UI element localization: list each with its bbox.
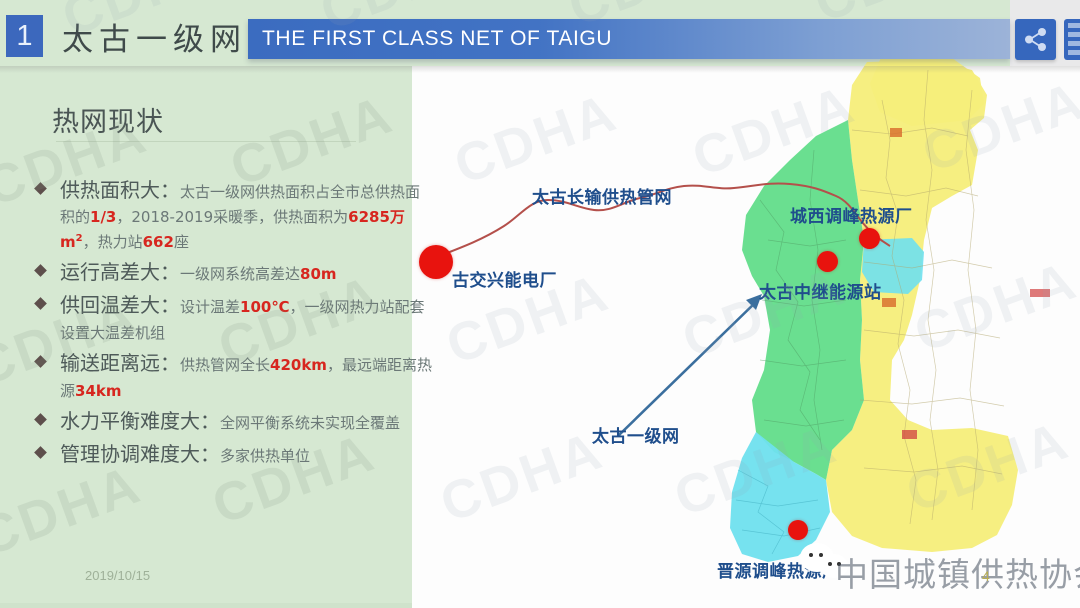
map-label-relay-station: 太古中继能源站 xyxy=(759,278,882,303)
bullet-text: 一级网系统高差达 xyxy=(180,265,300,283)
bullet-head: 运行高差大： xyxy=(60,260,180,284)
map-label-long-pipe: 太古长输供热管网 xyxy=(532,183,672,208)
bullet-text: 设计温差 xyxy=(180,298,240,316)
page-number: 4 xyxy=(982,568,990,584)
footer-accent-line xyxy=(0,603,412,608)
list-item: 运行高差大：一级网系统高差达80m xyxy=(34,257,434,287)
map-label-chengxi-plant: 城西调峰热源厂 xyxy=(790,202,913,227)
wechat-eye xyxy=(819,553,823,557)
wechat-eye xyxy=(828,562,832,566)
taigu-relay-dot xyxy=(817,251,838,272)
slide-number-badge: 1 xyxy=(6,15,43,57)
menu-bar-3 xyxy=(1068,41,1080,46)
bullet-head: 管理协调难度大： xyxy=(60,442,220,466)
list-item: 水力平衡难度大：全网平衡系统未实现全覆盖 xyxy=(34,406,434,436)
menu-bar-1 xyxy=(1068,23,1080,28)
wechat-eye xyxy=(809,553,813,557)
chengxi-plant-dot xyxy=(859,228,880,249)
bullet-head: 输送距离远： xyxy=(60,351,180,375)
share-icon[interactable] xyxy=(1015,19,1056,60)
bullet-highlight: 420km xyxy=(270,356,327,374)
jinyuan-plant-dot xyxy=(788,520,808,540)
brand-watermark: 中国城镇供热协会 xyxy=(835,548,1080,596)
map-label-first-class-net: 太古一级网 xyxy=(592,422,680,447)
bullet-head: 供热面积大： xyxy=(60,178,180,202)
bullet-text: ，2018-2019采暖季，供热面积为 xyxy=(116,208,348,226)
section-title: 热网现状 xyxy=(52,100,164,139)
bullet-list: 供热面积大：太古一级网供热面积占全市总供热面积的1/3，2018-2019采暖季… xyxy=(34,175,434,473)
slide-root: 太古长输供热管网 古交兴能电厂 城西调峰热源厂 太古中继能源站 太古一级网 晋源… xyxy=(0,0,1080,608)
list-menu-icon[interactable] xyxy=(1064,19,1080,60)
annotation-arrow xyxy=(618,294,762,436)
taiyuan-district-map xyxy=(412,0,1080,608)
bullet-text: 全网平衡系统未实现全覆盖 xyxy=(220,414,400,432)
share-glyph xyxy=(1015,19,1056,60)
list-item: 输送距离远：供热管网全长420km，最远端距离热源34km xyxy=(34,348,434,403)
bullet-head: 水力平衡难度大： xyxy=(60,409,220,433)
bullet-text: 供热管网全长 xyxy=(180,356,270,374)
bullet-head: 供回温差大： xyxy=(60,293,180,317)
bullet-highlight: 80m xyxy=(300,265,337,283)
bullet-highlight: 100℃ xyxy=(240,298,289,316)
map-label-gujiao-plant: 古交兴能电厂 xyxy=(452,266,557,291)
bullet-text: ，热力站 xyxy=(83,233,143,251)
date-stamp: 2019/10/15 xyxy=(85,568,150,583)
list-item: 供回温差大：设计温差100℃，一级网热力站配套设置大温差机组 xyxy=(34,290,434,345)
map-area: 太古长输供热管网 古交兴能电厂 城西调峰热源厂 太古中继能源站 太古一级网 晋源… xyxy=(412,0,1080,608)
bullet-highlight: 662 xyxy=(143,233,174,251)
menu-bar-2 xyxy=(1068,32,1080,37)
menu-bar-4 xyxy=(1068,50,1080,55)
list-item: 管理协调难度大：多家供热单位 xyxy=(34,439,434,469)
bullet-text: 座 xyxy=(174,233,189,251)
bullet-highlight: 34km xyxy=(75,382,121,400)
list-item: 供热面积大：太古一级网供热面积占全市总供热面积的1/3，2018-2019采暖季… xyxy=(34,175,434,254)
page-subtitle-en: THE FIRST CLASS NET OF TAIGU xyxy=(262,27,612,51)
section-divider xyxy=(56,141,356,142)
bullet-highlight: 1/3 xyxy=(90,208,116,226)
bullet-text: 多家供热单位 xyxy=(220,447,310,465)
page-title: 太古一级网 xyxy=(62,14,247,59)
